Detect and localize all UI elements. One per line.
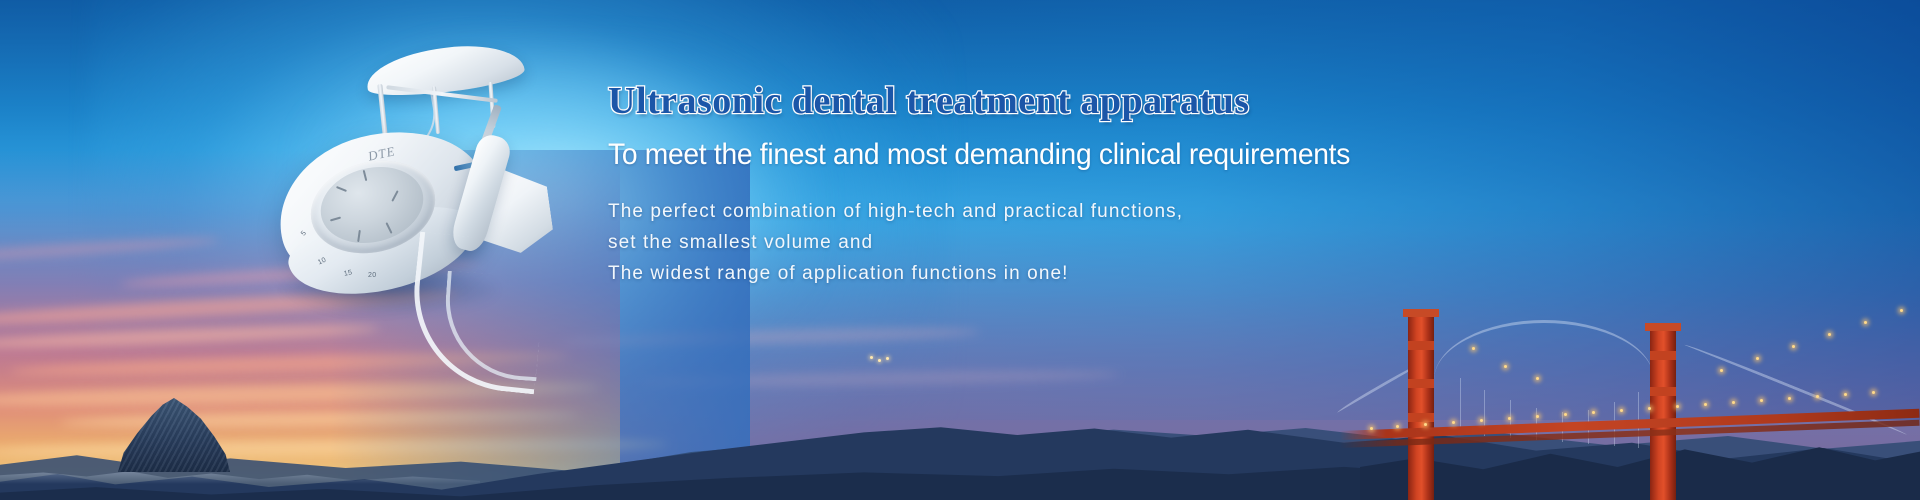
distant-light bbox=[878, 359, 881, 362]
distant-light bbox=[886, 357, 889, 360]
product-image-ultrasonic-scaler: 5 10 15 20 DTE bbox=[258, 42, 578, 342]
bridge-tower-crossbeam bbox=[1408, 341, 1434, 350]
bridge-tower-crossbeam bbox=[1408, 379, 1434, 388]
banner-body-text: The perfect combination of high-tech and… bbox=[608, 196, 1808, 289]
body-line-3: The widest range of application function… bbox=[608, 258, 1808, 289]
hero-banner: 5 10 15 20 DTE Ultrasonic dental treatme… bbox=[0, 0, 1920, 500]
dial-scale-value: 20 bbox=[368, 272, 376, 279]
banner-copy-block: Ultrasonic dental treatment apparatus To… bbox=[608, 78, 1808, 289]
bridge-tower-cap bbox=[1403, 309, 1439, 317]
banner-headline: Ultrasonic dental treatment apparatus bbox=[608, 78, 1808, 124]
bridge-tower-cap bbox=[1645, 323, 1681, 331]
distant-light bbox=[870, 356, 873, 359]
bridge-tower-crossbeam bbox=[1408, 413, 1434, 422]
bridge-cable bbox=[1434, 320, 1654, 380]
bridge-tower-crossbeam bbox=[1650, 351, 1676, 360]
body-line-2: set the smallest volume and bbox=[608, 227, 1808, 258]
bridge-tower-crossbeam bbox=[1650, 387, 1676, 396]
banner-subheadline: To meet the finest and most demanding cl… bbox=[608, 136, 1736, 174]
body-line-1: The perfect combination of high-tech and… bbox=[608, 196, 1808, 227]
